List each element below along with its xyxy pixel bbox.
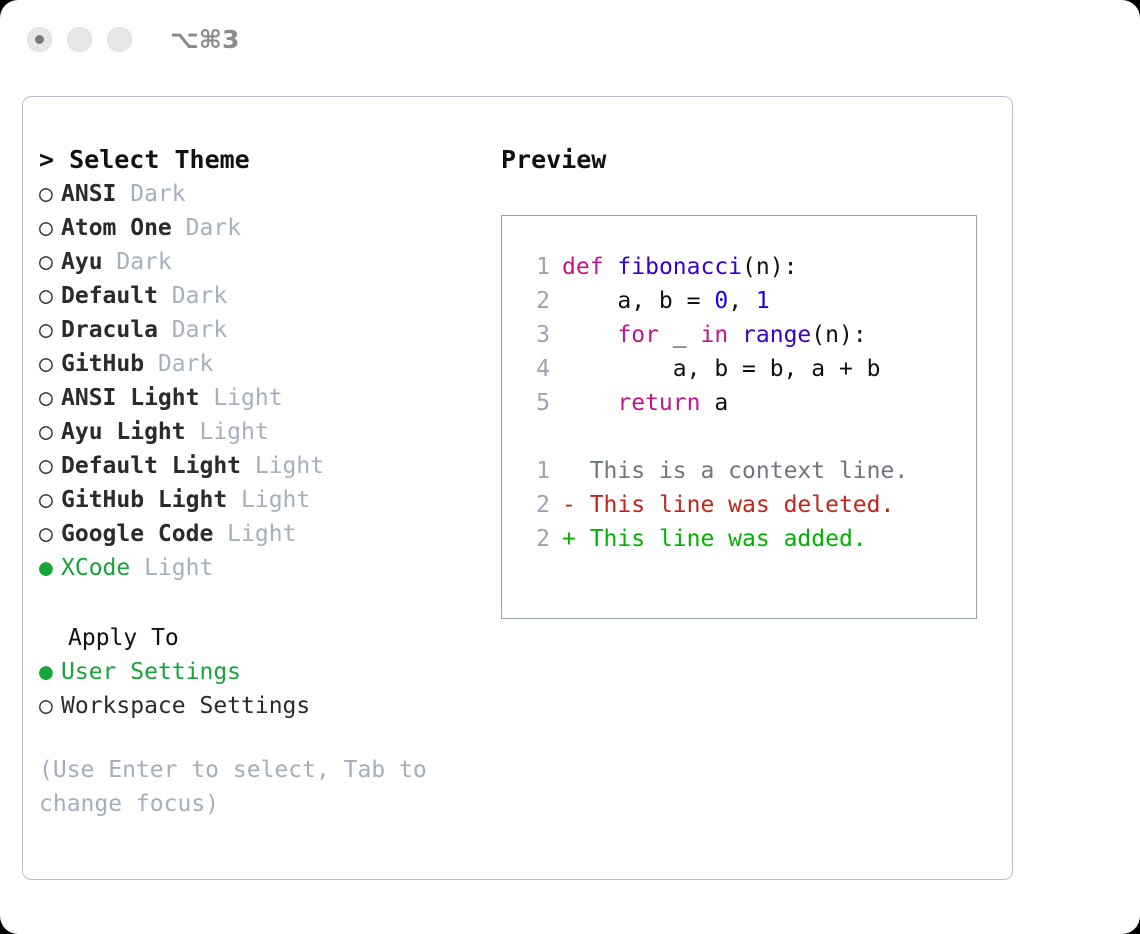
- code-token-txt: [562, 322, 617, 348]
- theme-variant-tag: Light: [227, 487, 310, 513]
- code-token-txt: a, b =: [562, 288, 714, 314]
- preview-column: Preview 1def fibonacci(n):2 a, b = 0, 13…: [501, 143, 991, 619]
- radio-unselected-icon: ○: [39, 177, 61, 211]
- theme-option-label: GitHub Light: [61, 487, 227, 513]
- window-controls: [27, 27, 132, 52]
- code-token-fn: fibonacci: [617, 254, 742, 280]
- code-token-num: 1: [756, 288, 770, 314]
- code-token-kw: return: [617, 390, 700, 416]
- radio-unselected-icon: ○: [39, 449, 61, 483]
- theme-variant-tag: Light: [130, 555, 213, 581]
- theme-variant-tag: Dark: [103, 249, 172, 275]
- code-sample: 1def fibonacci(n):2 a, b = 0, 13 for _ i…: [522, 250, 976, 420]
- code-line: 4 a, b = b, a + b: [522, 352, 976, 386]
- radio-unselected-icon: ○: [39, 245, 61, 279]
- line-number: 2: [522, 488, 550, 522]
- theme-list[interactable]: ○ANSI Dark○Atom One Dark○Ayu Dark○Defaul…: [39, 177, 489, 585]
- code-token-kw: in: [700, 322, 728, 348]
- line-number: 2: [522, 522, 550, 556]
- keyboard-shortcut-label: ⌥⌘3: [170, 25, 239, 54]
- theme-option-label: Default: [61, 283, 158, 309]
- apply-to-option-label: Workspace Settings: [61, 693, 310, 719]
- record-dot-icon[interactable]: [27, 27, 52, 52]
- apply-to-option[interactable]: ○Workspace Settings: [39, 689, 489, 723]
- line-number: 1: [522, 250, 550, 284]
- keyboard-hint-text: (Use Enter to select, Tab to change focu…: [39, 753, 439, 821]
- code-token-txt: a: [700, 390, 728, 416]
- theme-variant-tag: Dark: [144, 351, 213, 377]
- code-token-txt: [728, 322, 742, 348]
- code-token-kw: def: [562, 254, 604, 280]
- theme-option[interactable]: ○ANSI Light Light: [39, 381, 489, 415]
- theme-option-label: Default Light: [61, 453, 241, 479]
- radio-unselected-icon: ○: [39, 517, 61, 551]
- radio-unselected-icon: ○: [39, 279, 61, 313]
- theme-option-label: Ayu Light: [61, 419, 186, 445]
- theme-option[interactable]: ○Ayu Dark: [39, 245, 489, 279]
- line-number: 5: [522, 386, 550, 420]
- code-token-fn: range: [742, 322, 811, 348]
- preview-box: 1def fibonacci(n):2 a, b = 0, 13 for _ i…: [501, 215, 977, 619]
- record-dot-inner: [35, 35, 44, 44]
- code-token-txt: [562, 390, 617, 416]
- code-line: 2 a, b = 0, 1: [522, 284, 976, 318]
- theme-option-label: XCode: [61, 555, 130, 581]
- diff-text: This line was deleted.: [576, 492, 895, 518]
- code-token-txt: ,: [728, 288, 756, 314]
- diff-line: 2+ This line was added.: [522, 522, 976, 556]
- theme-option[interactable]: ○Dracula Dark: [39, 313, 489, 347]
- diff-line: 2- This line was deleted.: [522, 488, 976, 522]
- radio-unselected-icon: ○: [39, 381, 61, 415]
- theme-option[interactable]: ○ANSI Dark: [39, 177, 489, 211]
- theme-option-label: Google Code: [61, 521, 213, 547]
- dot-3-icon[interactable]: [107, 27, 132, 52]
- code-token-kw: for: [617, 322, 659, 348]
- diff-marker: -: [562, 492, 576, 518]
- theme-variant-tag: Dark: [116, 181, 185, 207]
- code-token-txt: _: [659, 322, 701, 348]
- radio-selected-icon: ●: [39, 655, 61, 689]
- line-number: 2: [522, 284, 550, 318]
- code-token-txt: [604, 254, 618, 280]
- theme-variant-tag: Light: [241, 453, 324, 479]
- title-bar: ⌥⌘3: [0, 0, 1140, 78]
- apply-to-list[interactable]: ●User Settings○Workspace Settings: [39, 655, 489, 723]
- theme-option[interactable]: ○Atom One Dark: [39, 211, 489, 245]
- code-token-punc: (n):: [742, 254, 797, 280]
- theme-option[interactable]: ○GitHub Dark: [39, 347, 489, 381]
- radio-unselected-icon: ○: [39, 483, 61, 517]
- diff-text: This line was added.: [576, 526, 867, 552]
- radio-unselected-icon: ○: [39, 313, 61, 347]
- theme-option-label: Atom One: [61, 215, 172, 241]
- theme-option[interactable]: ○Default Dark: [39, 279, 489, 313]
- theme-option-label: ANSI: [61, 181, 116, 207]
- line-number: 4: [522, 352, 550, 386]
- preview-heading: Preview: [501, 143, 991, 177]
- theme-variant-tag: Dark: [158, 283, 227, 309]
- theme-option-label: Ayu: [61, 249, 103, 275]
- theme-option-label: GitHub: [61, 351, 144, 377]
- diff-marker: +: [562, 526, 576, 552]
- theme-option[interactable]: ●XCode Light: [39, 551, 489, 585]
- theme-selector-column: > Select Theme ○ANSI Dark○Atom One Dark○…: [39, 143, 489, 821]
- theme-option-label: Dracula: [61, 317, 158, 343]
- code-line: 1def fibonacci(n):: [522, 250, 976, 284]
- code-token-txt: a, b = b, a + b: [562, 356, 881, 382]
- radio-selected-icon: ●: [39, 551, 61, 585]
- dot-2-icon[interactable]: [67, 27, 92, 52]
- diff-line: 1 This is a context line.: [522, 454, 976, 488]
- radio-unselected-icon: ○: [39, 689, 61, 723]
- apply-to-option[interactable]: ●User Settings: [39, 655, 489, 689]
- theme-variant-tag: Light: [199, 385, 282, 411]
- radio-unselected-icon: ○: [39, 347, 61, 381]
- main-panel: > Select Theme ○ANSI Dark○Atom One Dark○…: [22, 96, 1013, 880]
- theme-option[interactable]: ○Default Light Light: [39, 449, 489, 483]
- theme-option[interactable]: ○Google Code Light: [39, 517, 489, 551]
- app-window: ⌥⌘3 > Select Theme ○ANSI Dark○Atom One D…: [0, 0, 1140, 934]
- apply-to-option-label: User Settings: [61, 659, 241, 685]
- line-number: 3: [522, 318, 550, 352]
- diff-sample: 1 This is a context line.2- This line wa…: [522, 454, 976, 556]
- diff-marker: [562, 458, 576, 484]
- diff-text: This is a context line.: [576, 458, 908, 484]
- theme-option[interactable]: ○Ayu Light Light: [39, 415, 489, 449]
- apply-to-heading: Apply To: [39, 621, 489, 655]
- theme-option[interactable]: ○GitHub Light Light: [39, 483, 489, 517]
- select-theme-heading: > Select Theme: [39, 143, 489, 177]
- radio-unselected-icon: ○: [39, 415, 61, 449]
- code-line: 5 return a: [522, 386, 976, 420]
- code-line: 3 for _ in range(n):: [522, 318, 976, 352]
- theme-variant-tag: Dark: [158, 317, 227, 343]
- theme-variant-tag: Light: [213, 521, 296, 547]
- theme-variant-tag: Light: [186, 419, 269, 445]
- theme-option-label: ANSI Light: [61, 385, 199, 411]
- line-number: 1: [522, 454, 550, 488]
- code-token-punc: (n):: [811, 322, 866, 348]
- radio-unselected-icon: ○: [39, 211, 61, 245]
- theme-variant-tag: Dark: [172, 215, 241, 241]
- code-token-num: 0: [714, 288, 728, 314]
